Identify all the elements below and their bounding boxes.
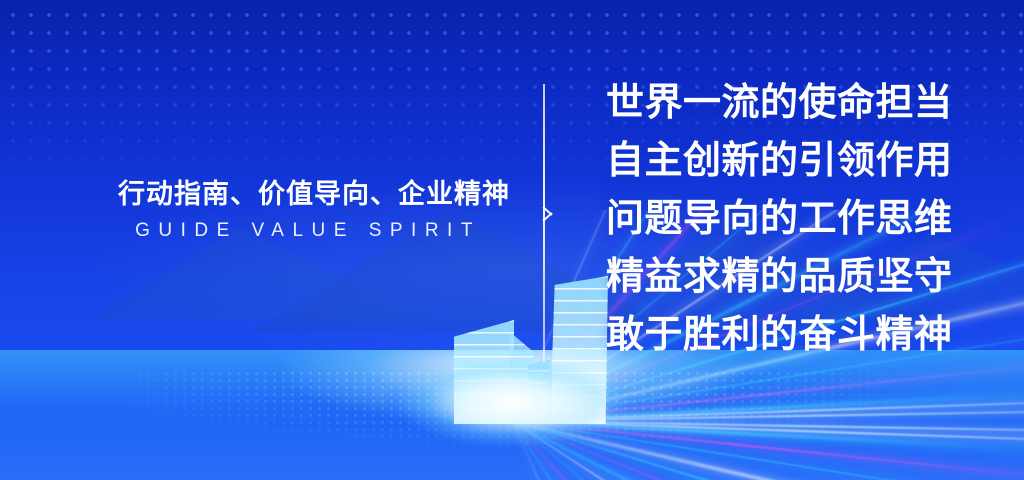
right-slogan-list: 世界一流的使命担当自主创新的引领作用问题导向的工作思维精益求精的品质坚守敢于胜利…: [606, 74, 953, 364]
chevron-right-icon: [543, 203, 554, 225]
slogan-line: 世界一流的使命担当: [606, 74, 953, 132]
left-subtitle: GUIDE VALUE SPIRIT: [118, 220, 490, 242]
slogan-line: 精益求精的品质坚守: [606, 248, 953, 306]
slogan-line: 问题导向的工作思维: [606, 190, 953, 248]
slogan-line: 敢于胜利的奋斗精神: [606, 306, 953, 364]
slogan-line: 自主创新的引领作用: [606, 132, 953, 190]
left-text-block: 行动指南、价值导向、企业精神 GUIDE VALUE SPIRIT: [118, 178, 490, 242]
banner-root: 行动指南、价值导向、企业精神 GUIDE VALUE SPIRIT 世界一流的使…: [0, 0, 1024, 480]
left-headline: 行动指南、价值导向、企业精神: [118, 178, 490, 211]
